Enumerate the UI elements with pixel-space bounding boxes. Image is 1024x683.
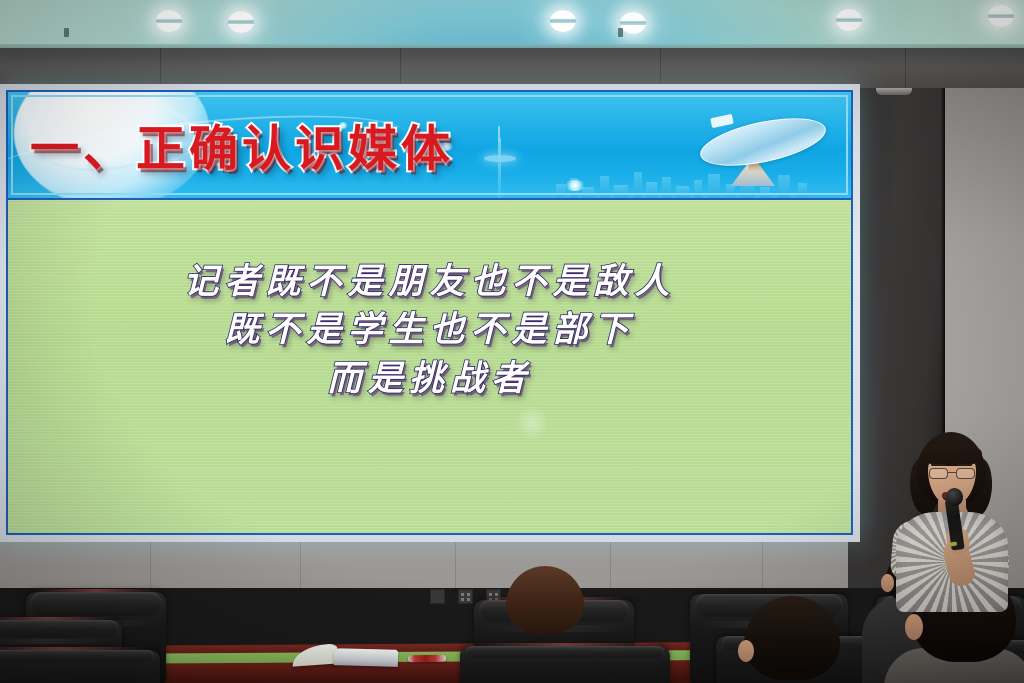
slide-text-line-1: 记者既不是朋友也不是敌人 <box>183 258 675 306</box>
ceiling-sensor-right-icon <box>618 28 623 37</box>
downlight-6 <box>988 5 1014 27</box>
downlight-3 <box>550 10 576 32</box>
panel-light <box>876 88 912 95</box>
open-notebook[interactable] <box>292 645 398 667</box>
slide-text-line-3: 而是挑战者 <box>327 355 532 403</box>
downlight-1 <box>156 10 182 32</box>
projector-hotspot <box>514 406 550 440</box>
chair-front-center[interactable] <box>460 646 670 683</box>
ceiling <box>0 0 1024 50</box>
eyeglasses-icon <box>929 468 975 479</box>
presenter-speaker <box>892 432 1010 612</box>
chair-front-left[interactable] <box>0 650 160 683</box>
red-pen[interactable] <box>408 655 446 663</box>
slide-text-line-2: 既不是学生也不是部下 <box>224 306 634 354</box>
slide-banner-title: 一、正确认识媒体 <box>30 110 454 181</box>
slide-surface: 一、正确认识媒体 记者既不是朋友也不是敌人 既不是学生也不是部下 而是挑战者 <box>6 90 853 535</box>
tv-tower-graphic-icon <box>498 138 501 198</box>
conference-room-scene: 一、正确认识媒体 记者既不是朋友也不是敌人 既不是学生也不是部下 而是挑战者 <box>0 0 1024 683</box>
wall-outlet-1-icon[interactable] <box>430 589 445 604</box>
downlight-2 <box>228 11 254 33</box>
audience-member-3 <box>744 596 840 680</box>
satellite-dish-graphic-icon <box>695 106 835 190</box>
projection-screen: 一、正确认识媒体 记者既不是朋友也不是敌人 既不是学生也不是部下 而是挑战者 <box>0 84 860 542</box>
slide-banner: 一、正确认识媒体 <box>8 92 851 200</box>
downlight-5 <box>836 9 862 31</box>
downlight-4 <box>620 12 646 34</box>
slide-body: 记者既不是朋友也不是敌人 既不是学生也不是部下 而是挑战者 <box>8 200 851 533</box>
audience-member-1 <box>506 566 584 634</box>
ceiling-sensor-left-icon <box>64 28 69 37</box>
wall-outlet-2-icon[interactable] <box>458 589 473 604</box>
